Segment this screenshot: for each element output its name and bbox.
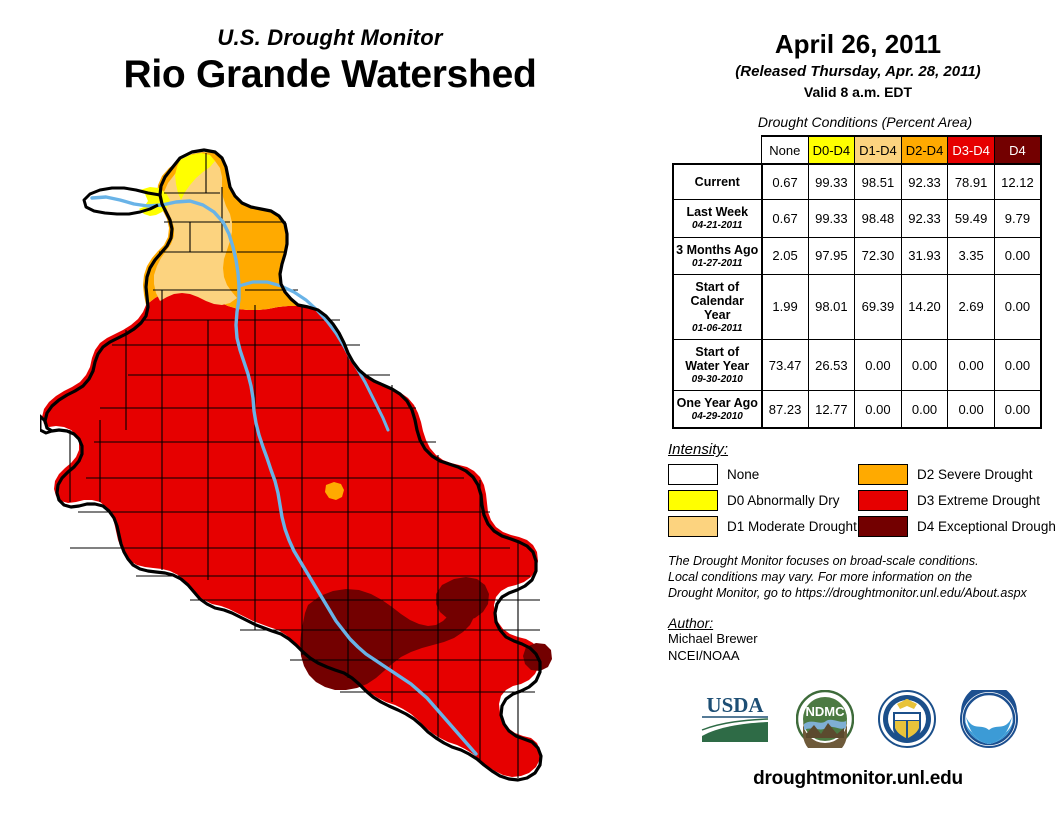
column-header-d1-d4: D1-D4 [855, 136, 902, 164]
svg-text:NDMC: NDMC [806, 704, 846, 719]
table-cell: 0.00 [994, 391, 1041, 429]
disclaimer-text: The Drought Monitor focuses on broad-sca… [668, 553, 1044, 601]
table-cell: 97.95 [808, 237, 855, 274]
row-label-text: Current [695, 175, 740, 189]
usdm-subtitle: U.S. Drought Monitor [0, 26, 660, 49]
table-row: Start ofCalendar Year01-06-20111.9998.01… [673, 274, 1041, 339]
noaa-logo: NOAA [960, 690, 1018, 753]
disclaimer-line-1: The Drought Monitor focuses on broad-sca… [668, 553, 1044, 569]
table-cell: 1.99 [762, 274, 809, 339]
logo-row: USDA NDMC [660, 690, 1056, 753]
usdc-seal [878, 690, 936, 753]
row-label: Start ofWater Year09-30-2010 [673, 340, 762, 391]
table-cell: 0.00 [855, 391, 902, 429]
title-block: U.S. Drought Monitor Rio Grande Watershe… [0, 26, 660, 97]
svg-text:USDA: USDA [706, 693, 764, 717]
row-label-text: 3 Months Ago [676, 243, 758, 257]
table-cell: 0.00 [994, 274, 1041, 339]
row-label: Start ofCalendar Year01-06-2011 [673, 274, 762, 339]
row-label-text: Start ofCalendar Year [691, 280, 745, 322]
legend-swatch [858, 464, 908, 485]
row-label-date: 04-21-2011 [676, 220, 759, 231]
table-caption: Drought Conditions (Percent Area) [674, 114, 1056, 130]
row-label-date: 09-30-2010 [676, 374, 759, 385]
table-cell: 99.33 [808, 200, 855, 237]
legend-label: D1 Moderate Drought [727, 519, 857, 534]
author-block: Author: Michael Brewer NCEI/NOAA [668, 615, 1056, 664]
legend-grid: NoneD2 Severe DroughtD0 Abnormally DryD3… [668, 464, 1048, 537]
legend-label: D4 Exceptional Drought [917, 519, 1056, 534]
legend-swatch [858, 490, 908, 511]
table-cell: 73.47 [762, 340, 809, 391]
legend-label: D3 Extreme Drought [917, 493, 1040, 508]
date-block: April 26, 2011 (Released Thursday, Apr. … [660, 0, 1056, 100]
table-cell: 92.33 [901, 200, 948, 237]
table-cell: 98.01 [808, 274, 855, 339]
table-cell: 0.00 [901, 340, 948, 391]
table-header: NoneD0-D4D1-D4D2-D4D3-D4D4 [673, 136, 1041, 164]
author-name: Michael Brewer [668, 631, 1056, 647]
row-label-text: Last Week [686, 205, 748, 219]
legend-swatch [858, 516, 908, 537]
release-date: (Released Thursday, Apr. 28, 2011) [660, 64, 1056, 81]
intensity-title: Intensity: [668, 441, 1048, 458]
drought-conditions-table: NoneD0-D4D1-D4D2-D4D3-D4D4 Current0.6799… [672, 135, 1042, 429]
legend-swatch [668, 464, 718, 485]
table-cell: 31.93 [901, 237, 948, 274]
table-cell: 78.91 [948, 164, 995, 200]
table-body: Current0.6799.3398.5192.3378.9112.12Last… [673, 164, 1041, 428]
row-label-date: 01-06-2011 [676, 323, 759, 334]
valid-time: Valid 8 a.m. EDT [660, 85, 1056, 100]
legend-swatch [668, 516, 718, 537]
map-drought-layers [42, 130, 552, 800]
table-cell: 3.35 [948, 237, 995, 274]
column-header-d2-d4: D2-D4 [901, 136, 948, 164]
table-cell: 0.00 [855, 340, 902, 391]
table-cell: 12.77 [808, 391, 855, 429]
table-cell: 2.69 [948, 274, 995, 339]
legend-item: D2 Severe Drought [858, 464, 1048, 485]
legend-item: None [668, 464, 858, 485]
row-label: Current [673, 164, 762, 200]
table-cell: 0.00 [994, 237, 1041, 274]
table-row: Start ofWater Year09-30-201073.4726.530.… [673, 340, 1041, 391]
table-cell: 0.00 [948, 391, 995, 429]
table-cell: 2.05 [762, 237, 809, 274]
legend-label: D2 Severe Drought [917, 467, 1033, 482]
table-cell: 12.12 [994, 164, 1041, 200]
row-label-text: One Year Ago [677, 396, 758, 410]
column-header-d0-d4: D0-D4 [808, 136, 855, 164]
row-label-date: 01-27-2011 [676, 258, 759, 269]
table-cell: 92.33 [901, 164, 948, 200]
disclaimer-line-2: Local conditions may vary. For more info… [668, 569, 1044, 585]
row-label: Last Week04-21-2011 [673, 200, 762, 237]
table-cell: 0.67 [762, 200, 809, 237]
table-cell: 0.00 [901, 391, 948, 429]
drought-map-svg[interactable] [40, 130, 660, 800]
column-header-d3-d4: D3-D4 [948, 136, 995, 164]
table-header-row: NoneD0-D4D1-D4D2-D4D3-D4D4 [673, 136, 1041, 164]
author-title: Author: [668, 615, 1056, 631]
legend-label: D0 Abnormally Dry [727, 493, 840, 508]
table-cell: 98.48 [855, 200, 902, 237]
table-cell: 59.49 [948, 200, 995, 237]
table-cell: 99.33 [808, 164, 855, 200]
table-cell: 0.00 [994, 340, 1041, 391]
intensity-legend: Intensity: NoneD2 Severe DroughtD0 Abnor… [668, 441, 1048, 537]
table-cell: 0.00 [948, 340, 995, 391]
legend-item: D1 Moderate Drought [668, 516, 858, 537]
legend-label: None [727, 467, 759, 482]
table-row: One Year Ago04-29-201087.2312.770.000.00… [673, 391, 1041, 429]
table-cell: 72.30 [855, 237, 902, 274]
right-panel: April 26, 2011 (Released Thursday, Apr. … [660, 0, 1056, 816]
table-cell: 0.67 [762, 164, 809, 200]
table-row: 3 Months Ago01-27-20112.0597.9572.3031.9… [673, 237, 1041, 274]
table-cell: 9.79 [994, 200, 1041, 237]
site-url[interactable]: droughtmonitor.unl.edu [660, 768, 1056, 790]
table-cell: 69.39 [855, 274, 902, 339]
usda-logo: USDA [698, 692, 772, 751]
page-title: Rio Grande Watershed [0, 53, 660, 97]
row-label-text: Start ofWater Year [685, 345, 749, 373]
map-date: April 26, 2011 [660, 30, 1056, 59]
ndmc-logo: NDMC [796, 690, 854, 753]
row-label: 3 Months Ago01-27-2011 [673, 237, 762, 274]
column-header-none: None [762, 136, 809, 164]
table-cell: 14.20 [901, 274, 948, 339]
legend-swatch [668, 490, 718, 511]
table-cell: 98.51 [855, 164, 902, 200]
legend-item: D3 Extreme Drought [858, 490, 1048, 511]
legend-item: D4 Exceptional Drought [858, 516, 1048, 537]
table-cell: 87.23 [762, 391, 809, 429]
legend-item: D0 Abnormally Dry [668, 490, 858, 511]
drought-map[interactable] [40, 130, 660, 800]
row-label: One Year Ago04-29-2010 [673, 391, 762, 429]
svg-text:NOAA: NOAA [974, 702, 1003, 713]
header-blank-cell [673, 136, 762, 164]
author-affiliation: NCEI/NOAA [668, 648, 1056, 664]
disclaimer-line-3: Drought Monitor, go to https://droughtmo… [668, 585, 1044, 601]
column-header-d4: D4 [994, 136, 1041, 164]
table-cell: 26.53 [808, 340, 855, 391]
table-row: Last Week04-21-20110.6799.3398.4892.3359… [673, 200, 1041, 237]
table-row: Current0.6799.3398.5192.3378.9112.12 [673, 164, 1041, 200]
row-label-date: 04-29-2010 [676, 411, 759, 422]
